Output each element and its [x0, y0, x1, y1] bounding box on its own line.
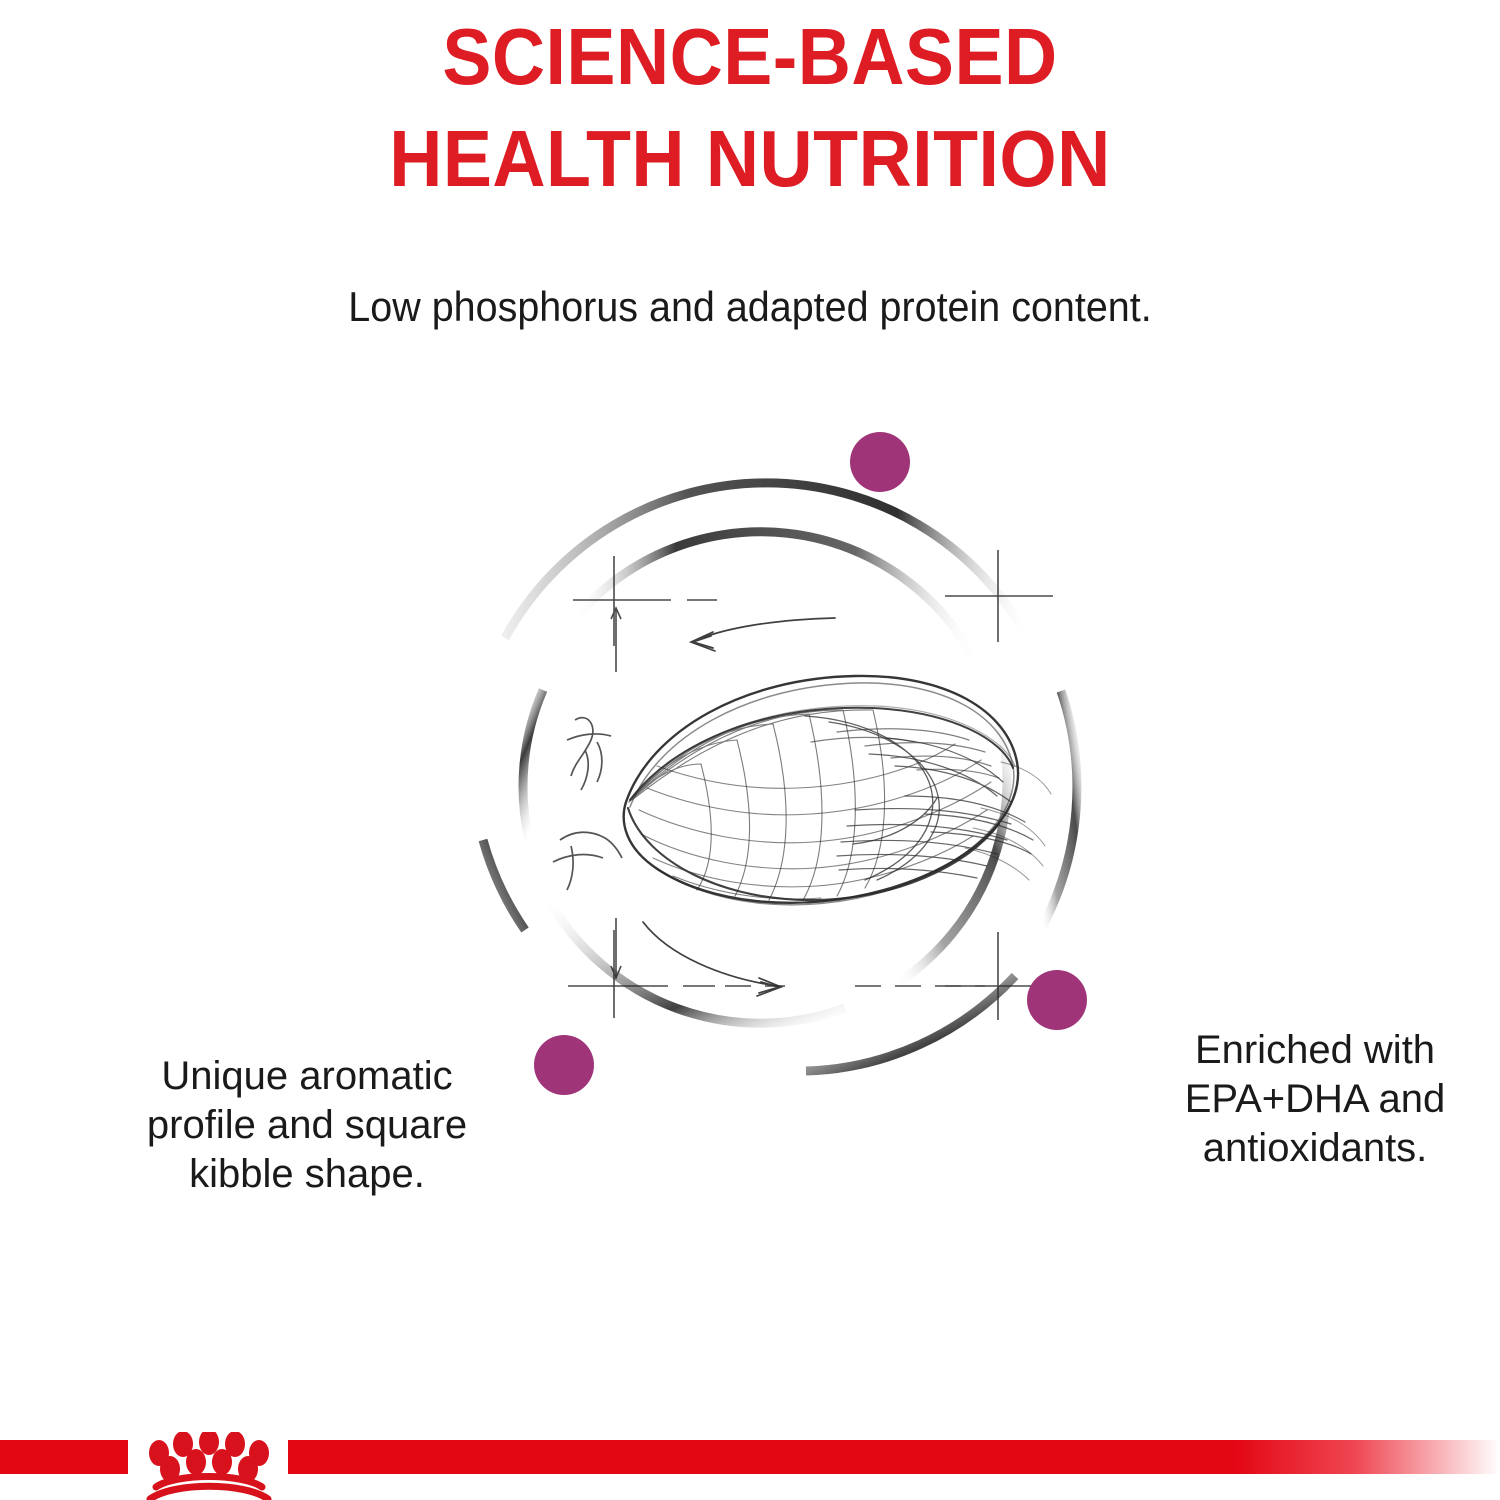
footer-bar-right	[288, 1440, 1500, 1474]
royal-canin-crown-icon	[118, 1432, 300, 1500]
accent-dot-bottom-left	[534, 1035, 594, 1095]
caption-left: Unique aromatic profile and square kibbl…	[72, 1052, 542, 1198]
handwritten-annotation	[553, 718, 622, 890]
kibble-sketch	[624, 618, 1051, 996]
caption-left-line-3: kibble shape.	[72, 1150, 542, 1199]
caption-right-line-2: EPA+DHA and	[1140, 1075, 1490, 1124]
outer-ring	[483, 483, 1077, 1071]
inner-ring-arc-top	[576, 532, 975, 660]
footer-brand-bar	[0, 1432, 1500, 1500]
accent-dot-bottom-right	[1027, 970, 1087, 1030]
inner-ring	[523, 532, 1007, 1023]
caption-right-line-3: antioxidants.	[1140, 1124, 1490, 1173]
caption-left-line-2: profile and square	[72, 1101, 542, 1150]
inner-ring-arc-left	[523, 690, 543, 840]
page-title-line-2: HEALTH NUTRITION	[60, 108, 1440, 210]
accent-dot-top-right	[850, 432, 910, 492]
inner-ring-arc-bottom	[549, 900, 845, 1023]
footer-bar-left	[0, 1440, 128, 1474]
kibble-emblem	[425, 410, 1115, 1150]
caption-right: Enriched with EPA+DHA and antioxidants.	[1140, 1026, 1490, 1172]
page-title: SCIENCE-BASED HEALTH NUTRITION	[60, 0, 1440, 211]
outer-ring-arc-right	[1042, 691, 1077, 927]
subtitle: Low phosphorus and adapted protein conte…	[45, 282, 1455, 332]
page-title-line-1: SCIENCE-BASED	[60, 6, 1440, 108]
caption-left-line-1: Unique aromatic	[72, 1052, 542, 1101]
caption-right-line-1: Enriched with	[1140, 1026, 1490, 1075]
outer-ring-arc-bottom-right	[806, 976, 1015, 1071]
outer-ring-arc-bottom-left	[483, 840, 525, 930]
